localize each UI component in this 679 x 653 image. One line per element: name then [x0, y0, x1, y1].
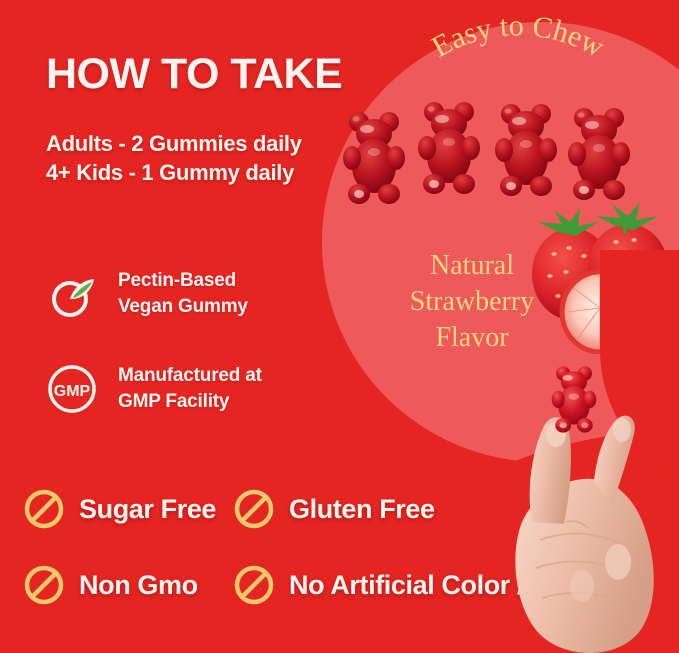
no-symbol-icon [232, 487, 276, 531]
feature-label: Manufactured at GMP Facility [118, 363, 262, 414]
svg-text:Easy to Chew: Easy to Chew [426, 9, 609, 64]
claim-label: Gluten Free [289, 494, 435, 525]
page-title: HOW TO TAKE [46, 52, 342, 97]
no-symbol-icon [22, 563, 66, 607]
gmp-badge-text: GMP [54, 383, 91, 400]
product-infographic: Easy to Chew [0, 0, 679, 653]
easy-to-chew-label: Easy to Chew [426, 9, 609, 64]
feature-pectin-based: Pectin-Based Vegan Gummy [46, 268, 248, 320]
claim-non-gmo: Non Gmo [22, 563, 198, 607]
natural-strawberry-flavor-label: Natural Strawberry Flavor [372, 248, 572, 355]
gummy-bear-icon [551, 362, 597, 434]
fruit-leaf-icon [46, 268, 98, 320]
no-symbol-icon [232, 563, 276, 607]
no-symbol-icon [22, 487, 66, 531]
easy-to-chew-callout: Easy to Chew [378, 44, 658, 124]
claim-label: Sugar Free [79, 494, 216, 525]
gmp-badge-icon: GMP [46, 363, 98, 415]
claim-label: Non Gmo [79, 570, 198, 601]
claim-sugar-free: Sugar Free [22, 487, 216, 531]
dosage-line-kids: 4+ Kids - 1 Gummy daily [46, 160, 294, 186]
feature-gmp-facility: GMP Manufactured at GMP Facility [46, 363, 262, 415]
dosage-line-adults: Adults - 2 Gummies daily [46, 131, 302, 157]
feature-label: Pectin-Based Vegan Gummy [118, 268, 248, 319]
claim-gluten-free: Gluten Free [232, 487, 435, 531]
